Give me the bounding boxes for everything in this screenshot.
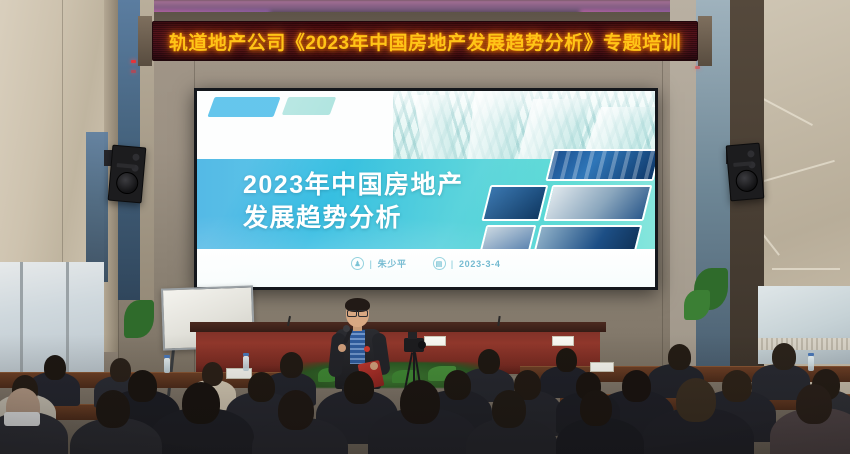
indicator-led-left: [131, 60, 136, 63]
indicator-led-right-2: [695, 66, 700, 69]
meta-separator-1: |: [369, 259, 372, 269]
collage-photo-meeting: [481, 185, 548, 221]
nameplate-2: [552, 336, 574, 346]
water-bottle-2: [243, 356, 249, 371]
audience-nameplate-2: [590, 362, 614, 372]
nameplate-1: [424, 336, 446, 346]
presentation-date: 2023-3-4: [459, 259, 501, 269]
led-banner: 轨道地产公司《2023年中国房地产发展趋势分析》专题培训: [152, 21, 698, 61]
person-icon: ♟: [351, 257, 364, 270]
presenter-name: 朱少平: [378, 257, 407, 270]
collage-photo-handshake: [545, 149, 655, 181]
slide-meta-row: ♟ | 朱少平 ▤ | 2023-3-4: [197, 257, 655, 270]
conference-photo-scene: 轨道地产公司《2023年中国房地产发展趋势分析》专题培训: [0, 0, 850, 454]
presenter-shirt: [350, 330, 365, 364]
banner-frame-left: [138, 16, 152, 66]
podium-top-edge: [190, 322, 606, 332]
bottle-cap-2: [243, 353, 249, 356]
microphone-head: [343, 325, 350, 332]
water-bottle-3: [808, 356, 814, 371]
presenter-hand-left: [338, 344, 346, 352]
collage-photo-laptop: [543, 185, 652, 221]
video-camera-lens: [418, 341, 426, 349]
calendar-icon: ▤: [433, 257, 446, 270]
video-camera-viewfinder: [408, 332, 417, 339]
slide-accent-rect-blue: [207, 97, 280, 117]
bottle-cap-3: [808, 353, 814, 356]
wall-speaker-left: [108, 145, 147, 204]
wall-speaker-right: [726, 143, 765, 202]
face-mask: [4, 412, 40, 426]
presenter-badge: [364, 346, 370, 352]
banner-frame-right: [698, 16, 712, 66]
banner-text: 轨道地产公司《2023年中国房地产发展趋势分析》专题培训: [169, 28, 681, 55]
indicator-led-left-2: [131, 70, 136, 73]
water-bottle-1: [164, 358, 170, 373]
meta-separator-2: |: [451, 259, 454, 269]
slide-surface: 2023年中国房地产 发展趋势分析: [197, 91, 655, 287]
projection-screen: 2023年中国房地产 发展趋势分析: [194, 88, 658, 290]
right-window-vent: [758, 338, 850, 350]
slide-presenter: ♟ | 朱少平: [351, 257, 406, 270]
slide-date: ▤ | 2023-3-4: [433, 257, 501, 270]
presenter-hand-right: [370, 362, 378, 370]
slide-accent-rect-teal: [282, 97, 337, 115]
bottle-cap-1: [164, 355, 170, 358]
presenter-glasses: [347, 310, 368, 315]
